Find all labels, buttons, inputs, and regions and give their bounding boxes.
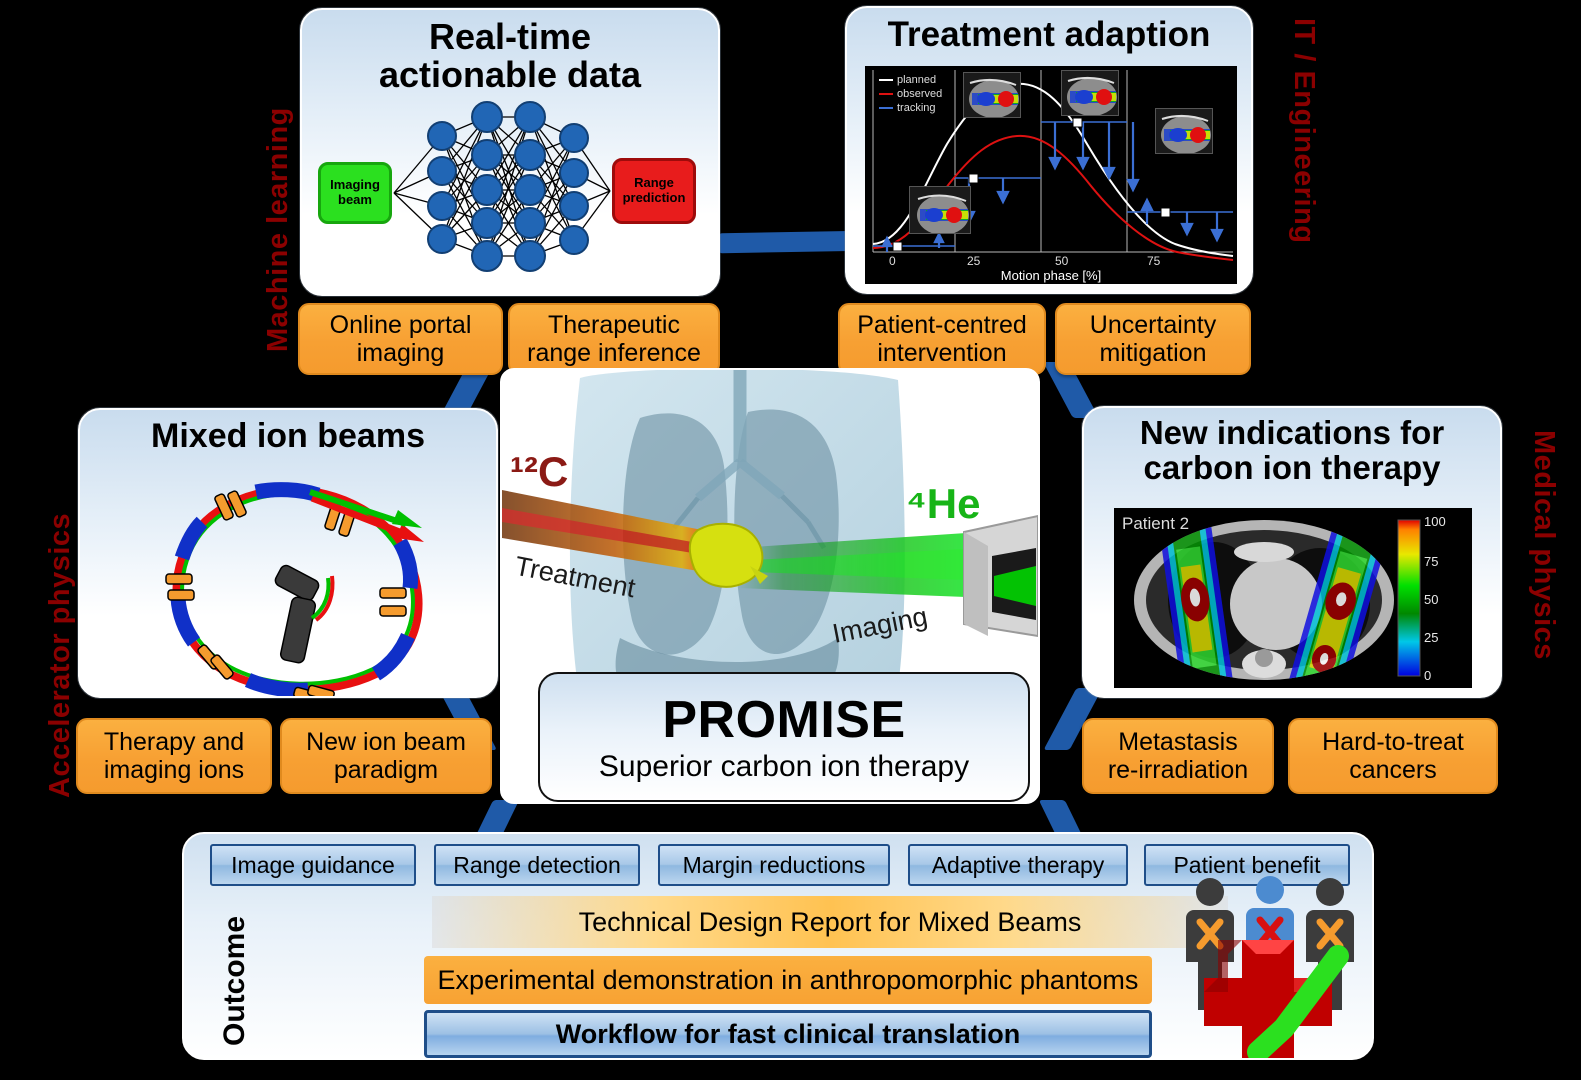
pill-hard-to-treat-cancers-l1: Hard-to-treat — [1322, 728, 1464, 756]
pill-patient-centred-intervention-l2: intervention — [877, 339, 1006, 367]
colorbar-tick-75: 75 — [1424, 554, 1438, 569]
plot-xaxis-label: Motion phase [%] — [865, 268, 1237, 283]
pill-patient-centred-intervention-l1: Patient-centred — [857, 311, 1027, 339]
promise-title: PROMISE — [662, 690, 905, 750]
pill-therapy-and-imaging-ions-l1: Therapy and — [104, 728, 244, 756]
experimental-demonstration-bar: Experimental demonstration in anthropomo… — [424, 956, 1152, 1004]
pill-online-portal-imaging[interactable]: Online portal imaging — [298, 303, 503, 375]
colorbar-tick-50: 50 — [1424, 592, 1438, 607]
helium-ion-label: ⁴He — [906, 480, 980, 528]
pill-hard-to-treat-cancers-l2: cancers — [1349, 756, 1437, 784]
pill-uncertainty-mitigation-l1: Uncertainty — [1090, 311, 1216, 339]
colorbar-tick-100: 100 — [1424, 514, 1446, 529]
chip-margin-reductions[interactable]: Margin reductions — [658, 844, 890, 886]
pill-uncertainty-mitigation[interactable]: Uncertainty mitigation — [1055, 303, 1251, 375]
xtick-50: 50 — [1055, 254, 1068, 268]
panel-new-indications: New indications for carbon ion therapy — [1082, 406, 1502, 698]
ct-dose-distribution: Patient 2 100 75 50 25 0 — [1114, 508, 1472, 688]
panel-indications-title-line1: New indications for — [1084, 416, 1500, 451]
pill-online-portal-imaging-l2: imaging — [357, 339, 445, 367]
plot-legend-tracking: tracking — [897, 102, 936, 114]
discipline-label-it-engineering: IT / Engineering — [1287, 18, 1320, 244]
outcome-panel: Outcome Image guidance Range detection M… — [182, 832, 1374, 1060]
ct-patient-id: Patient 2 — [1122, 514, 1189, 534]
motion-phase-plot: planned observed tracking — [865, 66, 1237, 284]
pill-new-ion-beam-paradigm[interactable]: New ion beam paradigm — [280, 718, 492, 794]
panel-realtime-actionable-data: Real-time actionable data Imaging beam R… — [300, 8, 720, 296]
outcome-label: Outcome — [218, 916, 252, 1046]
panel-mixed-title: Mixed ion beams — [80, 410, 496, 454]
pill-metastasis-re-irradiation-l1: Metastasis — [1118, 728, 1237, 756]
panel-treatment-title: Treatment adaption — [847, 8, 1251, 53]
pill-therapeutic-range-inference[interactable]: Therapeutic range inference — [508, 303, 720, 375]
plot-legend-observed: observed — [897, 88, 942, 100]
pill-metastasis-re-irradiation-l2: re-irradiation — [1108, 756, 1248, 784]
panel-treatment-adaption: Treatment adaption — [845, 6, 1253, 294]
patient-benefit-icon-cluster — [1172, 870, 1372, 1060]
chip-adaptive-therapy[interactable]: Adaptive therapy — [908, 844, 1128, 886]
panel-mixed-ion-beams: Mixed ion beams — [78, 408, 498, 698]
workflow-clinical-translation-bar: Workflow for fast clinical translation — [424, 1010, 1152, 1058]
pill-uncertainty-mitigation-l2: mitigation — [1099, 339, 1206, 367]
promise-subtitle: Superior carbon ion therapy — [599, 750, 969, 784]
pill-online-portal-imaging-l1: Online portal — [330, 311, 472, 339]
poster-root: Machine learning IT / Engineering Accele… — [0, 0, 1581, 1080]
neural-network-svg — [302, 10, 720, 296]
discipline-label-accelerator-physics: Accelerator physics — [44, 513, 77, 798]
pill-therapeutic-range-inference-l1: Therapeutic — [548, 311, 680, 339]
pill-therapeutic-range-inference-l2: range inference — [527, 339, 701, 367]
discipline-label-machine-learning: Machine learning — [262, 107, 295, 352]
neural-network-diagram: Imaging beam Range prediction — [302, 10, 718, 294]
xtick-0: 0 — [889, 254, 896, 268]
technical-design-report-bar: Technical Design Report for Mixed Beams — [432, 896, 1228, 948]
ct-thumb-phase-75 — [1155, 108, 1213, 154]
xtick-75: 75 — [1147, 254, 1160, 268]
chip-image-guidance[interactable]: Image guidance — [210, 844, 416, 886]
pill-new-ion-beam-paradigm-l1: New ion beam — [306, 728, 466, 756]
carbon-ion-label: ¹²C — [510, 448, 568, 496]
discipline-label-medical-physics: Medical physics — [1527, 430, 1560, 660]
pill-metastasis-re-irradiation[interactable]: Metastasis re-irradiation — [1082, 718, 1274, 794]
colorbar-tick-25: 25 — [1424, 630, 1438, 645]
pill-therapy-and-imaging-ions[interactable]: Therapy and imaging ions — [76, 718, 272, 794]
plot-legend-planned: planned — [897, 74, 936, 86]
promise-title-box: PROMISE Superior carbon ion therapy — [538, 672, 1030, 802]
pill-therapy-and-imaging-ions-l2: imaging ions — [104, 756, 244, 784]
chip-range-detection[interactable]: Range detection — [434, 844, 640, 886]
pill-new-ion-beam-paradigm-l2: paradigm — [334, 756, 438, 784]
xtick-25: 25 — [967, 254, 980, 268]
ct-thumb-phase-0 — [909, 186, 971, 234]
ct-dose-svg — [1114, 508, 1472, 688]
colorbar-tick-0: 0 — [1424, 668, 1431, 683]
pill-patient-centred-intervention[interactable]: Patient-centred intervention — [838, 303, 1046, 375]
synchrotron-ring-diagram — [80, 458, 498, 698]
panel-indications-title: New indications for carbon ion therapy — [1084, 408, 1500, 486]
ct-thumb-phase-25 — [963, 72, 1021, 118]
ct-thumb-phase-50 — [1061, 70, 1119, 116]
panel-indications-title-line2: carbon ion therapy — [1084, 451, 1500, 486]
pill-hard-to-treat-cancers[interactable]: Hard-to-treat cancers — [1288, 718, 1498, 794]
